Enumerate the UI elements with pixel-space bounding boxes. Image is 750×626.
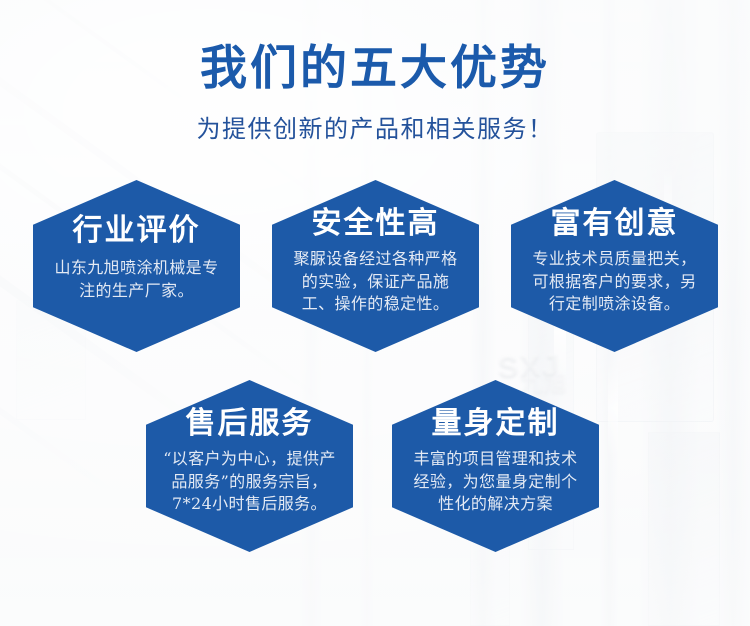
advantage-title: 安全性高: [286, 209, 465, 239]
advantage-body: 丰富的项目管理和技术经验，为您量身定制个性化的解决方案: [406, 448, 585, 516]
advantage-title: 量身定制: [406, 409, 585, 439]
advantage-body: 专业技术员质量把关，可根据客户的要求，另行定制喷涂设备。: [525, 248, 704, 316]
advantages-banner: 九旭 SXJ 九旭 我们的五大优势 为提供创新的产品和相关服务！ 行业评价 山东…: [0, 0, 750, 626]
advantage-title: 富有创意: [525, 209, 704, 239]
advantage-body: “以客户为中心，提供产品服务”的服务宗旨，7*24小时售后服务。: [160, 448, 339, 516]
page-subtitle: 为提供创新的产品和相关服务！: [0, 109, 750, 144]
background-watermark: 九旭: [520, 366, 568, 398]
advantage-body: 聚脲设备经过各种严格的实验，保证产品施工、操作的稳定性。: [286, 248, 465, 316]
page-title: 我们的五大优势: [0, 42, 750, 97]
advantage-body: 山东九旭喷涂机械是专注的生产厂家。: [47, 257, 226, 302]
advantage-title: 售后服务: [160, 409, 339, 439]
header-block: 我们的五大优势 为提供创新的产品和相关服务！: [0, 42, 750, 144]
advantage-title: 行业评价: [47, 216, 226, 246]
